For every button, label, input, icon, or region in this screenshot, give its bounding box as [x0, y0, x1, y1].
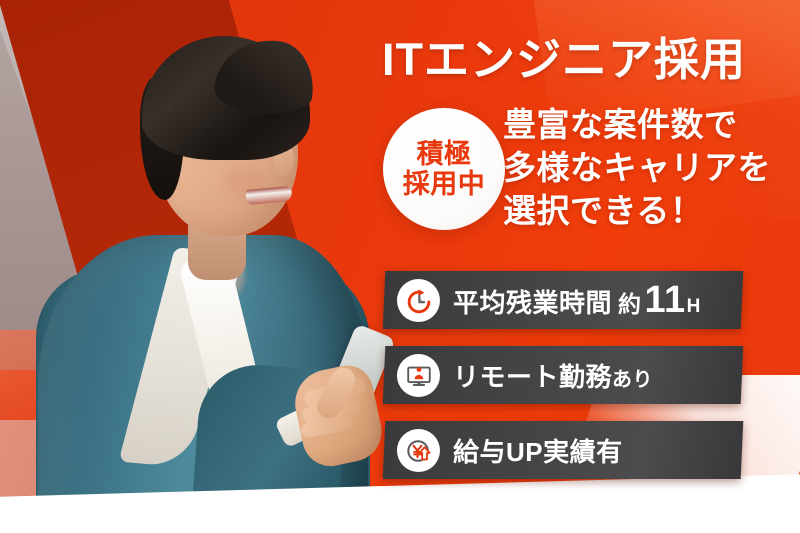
subtitle-line-3: 選択できる！ — [503, 190, 771, 233]
businessman-photo — [28, 10, 428, 520]
feature-overtime-hours: 平均残業時間 約 11 H — [383, 271, 744, 329]
feature-salary-text: 給与UP実績有 — [453, 432, 623, 469]
feature-list: 平均残業時間 約 11 H — [384, 271, 742, 496]
feature-overtime-label: 平均残業時間 — [453, 283, 612, 320]
feature-overtime-unit: H — [687, 296, 701, 318]
subtitle-line-2: 多様なキャリアを — [503, 147, 771, 190]
feature-salary-increase: 給与UP実績有 — [383, 421, 744, 479]
badge-line-2: 採用中 — [403, 169, 486, 199]
remote-monitor-icon — [397, 354, 440, 397]
subtitle-block: 豊富な案件数で 多様なキャリアを 選択できる！ — [503, 104, 771, 233]
feature-overtime-value: 11 — [645, 281, 686, 319]
feature-remote-work: リモート勤務 あり — [383, 346, 744, 404]
headline-title: ITエンジニア採用 — [382, 36, 746, 83]
yen-up-icon — [397, 429, 440, 472]
badge-line-1: 積極 — [417, 139, 472, 169]
recruitment-banner: ITエンジニア採用 積極 採用中 豊富な案件数で 多様なキャリアを 選択できる！ — [0, 0, 800, 533]
feature-overtime-prefix: 約 — [618, 285, 642, 319]
feature-remote-text: リモート勤務 あり — [453, 357, 653, 394]
status-badge-active-hiring: 積極 採用中 — [383, 108, 505, 230]
feature-overtime-text: 平均残業時間 約 11 H — [453, 281, 701, 320]
feature-remote-suffix: あり — [612, 363, 653, 392]
stopwatch-icon — [397, 279, 440, 322]
subtitle-line-1: 豊富な案件数で — [503, 104, 771, 147]
feature-remote-label: リモート勤務 — [453, 357, 612, 394]
feature-salary-label: 給与UP実績有 — [453, 432, 623, 469]
